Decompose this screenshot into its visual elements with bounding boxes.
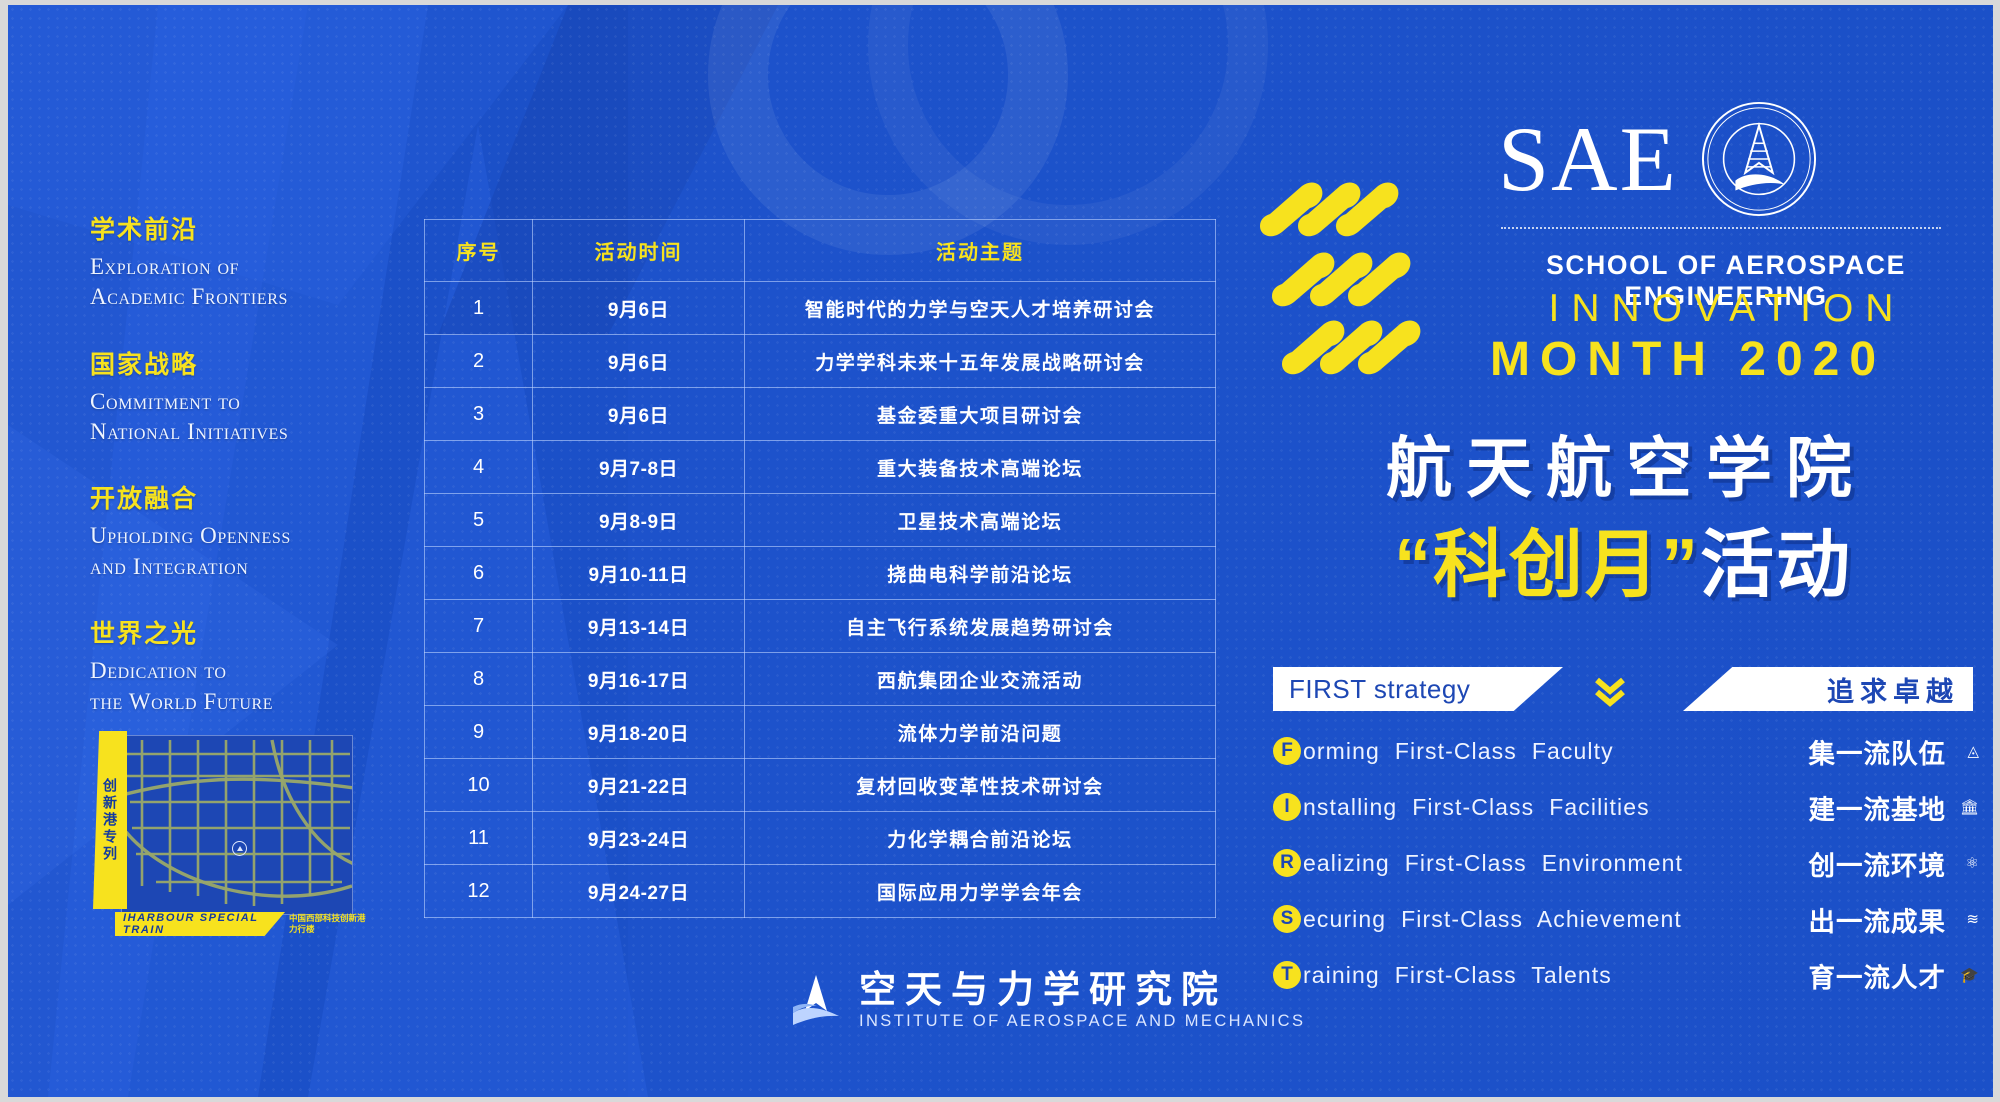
pillar-title-en: Dedication to the World Future <box>90 656 400 717</box>
cell-no: 1 <box>425 282 533 335</box>
first-row-en: ecuring First-Class Achievement <box>1303 906 1682 933</box>
poster-title-cn-line2: “科创月”活动 <box>1273 505 1973 612</box>
layers-icon: ≋ <box>1953 910 1979 928</box>
pillar-title-cn: 开放融合 <box>90 479 400 515</box>
cell-date: 9月24-27日 <box>533 865 745 918</box>
map-tab-vertical: 创新港专列 <box>93 731 127 909</box>
table-row: 8 9月16-17日 西航集团企业交流活动 <box>425 653 1216 706</box>
cell-date: 9月18-20日 <box>533 706 745 759</box>
first-strategy-row: F orming First-Class Faculty 集一流队伍 ◬ <box>1273 723 1979 779</box>
atom-icon: ⚛ <box>1953 854 1979 872</box>
first-row-cn: 育一流人才 <box>1809 956 1947 995</box>
column-header-no: 序号 <box>425 220 533 282</box>
table-row: 7 9月13-14日 自主飞行系统发展趋势研讨会 <box>425 600 1216 653</box>
cell-date: 9月7-8日 <box>533 441 745 494</box>
poster-canvas: 学术前沿 Exploration of Academic Frontiers 国… <box>8 5 1993 1097</box>
cell-no: 5 <box>425 494 533 547</box>
graduation-icon: 🎓 <box>1953 966 1979 984</box>
cell-date: 9月23-24日 <box>533 812 745 865</box>
double-chevron-down-icon <box>1593 674 1627 708</box>
pillars-column: 学术前沿 Exploration of Academic Frontiers 国… <box>90 210 400 749</box>
pillar-en-line2: the World Future <box>90 687 400 717</box>
cell-date: 9月6日 <box>533 335 745 388</box>
pillar-title-cn: 国家战略 <box>90 345 400 381</box>
building-icon: 🏛 <box>1953 798 1979 816</box>
cell-topic: 卫星技术高端论坛 <box>745 494 1216 547</box>
pillar-en-line1: Dedication to <box>90 656 400 686</box>
first-strategy-row: R ealizing First-Class Environment 创一流环境… <box>1273 835 1979 891</box>
first-letter-badge: R <box>1273 849 1301 877</box>
title-highlight: 科创月 <box>1433 523 1661 606</box>
institute-logo: 空天与力学研究院 INSTITUTE OF AEROSPACE AND MECH… <box>787 971 1305 1030</box>
schedule-table-head: 序号 活动时间 活动主题 <box>425 220 1216 282</box>
institute-mark-icon <box>787 971 845 1029</box>
first-row-cn: 出一流成果 <box>1809 900 1947 939</box>
first-letter-badge: S <box>1273 905 1301 933</box>
cell-date: 9月8-9日 <box>533 494 745 547</box>
map-tab-vertical-label: 创新港专列 <box>100 778 120 863</box>
pillar-title-en: Commitment to National Initiatives <box>90 387 400 448</box>
table-row: 10 9月21-22日 复材回收变革性技术研讨会 <box>425 759 1216 812</box>
pillar-en-line1: Commitment to <box>90 387 400 417</box>
cell-topic: 重大装备技术高端论坛 <box>745 441 1216 494</box>
map-tab-bottom-label: IHARBOUR SPECIAL TRAIN <box>115 912 285 936</box>
cell-date: 9月13-14日 <box>533 600 745 653</box>
right-panel: SAE SCHOOL OF AEROSPACE ENGINEERING INNO… <box>1253 5 1993 1097</box>
pillar-en-line1: Upholding Openness <box>90 521 400 551</box>
column-header-date: 活动时间 <box>533 220 745 282</box>
first-row-en: orming First-Class Faculty <box>1303 738 1614 765</box>
cell-no: 4 <box>425 441 533 494</box>
sae-wordmark: SAE <box>1498 117 1678 202</box>
first-strategy-banner: FIRST strategy 追求卓越 <box>1273 667 1973 711</box>
pillar-en-line2: Academic Frontiers <box>90 282 400 312</box>
pillar-title-en: Upholding Openness and Integration <box>90 521 400 582</box>
first-strategy-list: F orming First-Class Faculty 集一流队伍 ◬ I n… <box>1273 723 1979 1003</box>
banner-right-segment: 追求卓越 <box>1683 667 1973 711</box>
cell-topic: 自主飞行系统发展趋势研讨会 <box>745 600 1216 653</box>
poster-title-cn-line1: 航天航空学院 <box>1276 415 1976 511</box>
cell-date: 9月16-17日 <box>533 653 745 706</box>
cell-topic: 力化学耦合前沿论坛 <box>745 812 1216 865</box>
first-letter-badge: I <box>1273 793 1301 821</box>
pillar-item: 国家战略 Commitment to National Initiatives <box>90 345 400 448</box>
pillar-title-cn: 世界之光 <box>90 614 400 650</box>
cell-date: 9月6日 <box>533 282 745 335</box>
first-strategy-label: FIRST strategy <box>1273 674 1470 705</box>
cell-topic: 国际应用力学学会年会 <box>745 865 1216 918</box>
cell-topic: 复材回收变革性技术研讨会 <box>745 759 1216 812</box>
cell-no: 12 <box>425 865 533 918</box>
cell-topic: 智能时代的力学与空天人才培养研讨会 <box>745 282 1216 335</box>
map-tab-bottom: IHARBOUR SPECIAL TRAIN <box>115 912 285 936</box>
cell-date: 9月21-22日 <box>533 759 745 812</box>
pillar-item: 学术前沿 Exploration of Academic Frontiers <box>90 210 400 313</box>
map-roads-icon <box>122 736 353 915</box>
pillar-item: 开放融合 Upholding Openness and Integration <box>90 479 400 582</box>
table-row: 1 9月6日 智能时代的力学与空天人才培养研讨会 <box>425 282 1216 335</box>
pillar-en-line2: and Integration <box>90 552 400 582</box>
sae-divider <box>1501 227 1941 229</box>
map-caption-line1: 中国西部科技创新港 <box>289 913 367 924</box>
first-strategy-row: I nstalling First-Class Facilities 建一流基地… <box>1273 779 1979 835</box>
map-caption-line2: 力行楼 <box>289 924 367 935</box>
cell-topic: 基金委重大项目研讨会 <box>745 388 1216 441</box>
university-seal-icon <box>1700 100 1818 218</box>
schedule-table: 序号 活动时间 活动主题 1 9月6日 智能时代的力学与空天人才培养研讨会 2 … <box>424 219 1216 918</box>
first-row-cn: 创一流环境 <box>1809 844 1947 883</box>
sae-logo-row: SAE <box>1498 100 1818 218</box>
cell-topic: 西航集团企业交流活动 <box>745 653 1216 706</box>
table-header-row: 序号 活动时间 活动主题 <box>425 220 1216 282</box>
first-letter-badge: T <box>1273 961 1301 989</box>
pillar-item: 世界之光 Dedication to the World Future <box>90 614 400 717</box>
cell-topic: 力学学科未来十五年发展战略研讨会 <box>745 335 1216 388</box>
people-icon: ◬ <box>1953 742 1979 760</box>
table-row: 2 9月6日 力学学科未来十五年发展战略研讨会 <box>425 335 1216 388</box>
title-quote-close: ” <box>1661 523 1700 606</box>
first-letter-badge: F <box>1273 737 1301 765</box>
table-row: 5 9月8-9日 卫星技术高端论坛 <box>425 494 1216 547</box>
map-caption: 中国西部科技创新港 力行楼 <box>289 913 367 936</box>
cell-no: 2 <box>425 335 533 388</box>
cell-date: 9月6日 <box>533 388 745 441</box>
cell-no: 9 <box>425 706 533 759</box>
first-row-en: ealizing First-Class Environment <box>1303 850 1683 877</box>
pillar-title-cn: 学术前沿 <box>90 210 400 246</box>
institute-names: 空天与力学研究院 INSTITUTE OF AEROSPACE AND MECH… <box>859 971 1305 1030</box>
cell-topic: 流体力学前沿问题 <box>745 706 1216 759</box>
map-graphic <box>121 735 353 915</box>
innovation-heading: INNOVATION <box>1501 287 1953 331</box>
table-row: 11 9月23-24日 力化学耦合前沿论坛 <box>425 812 1216 865</box>
table-row: 12 9月24-27日 国际应用力学学会年会 <box>425 865 1216 918</box>
cell-no: 7 <box>425 600 533 653</box>
first-row-en: raining First-Class Talents <box>1303 962 1612 989</box>
column-header-topic: 活动主题 <box>745 220 1216 282</box>
first-row-cn: 建一流基地 <box>1809 788 1947 827</box>
cell-topic: 挠曲电科学前沿论坛 <box>745 547 1216 600</box>
table-row: 4 9月7-8日 重大装备技术高端论坛 <box>425 441 1216 494</box>
pillar-en-line2: National Initiatives <box>90 417 400 447</box>
cell-date: 9月10-11日 <box>533 547 745 600</box>
cell-no: 6 <box>425 547 533 600</box>
pillar-title-en: Exploration of Academic Frontiers <box>90 252 400 313</box>
cell-no: 3 <box>425 388 533 441</box>
first-strategy-row: T raining First-Class Talents 育一流人才 🎓 <box>1273 947 1979 1003</box>
cell-no: 11 <box>425 812 533 865</box>
pursuit-excellence-label: 追求卓越 <box>1827 670 1973 709</box>
title-suffix: 活动 <box>1700 523 1852 606</box>
institute-name-en: INSTITUTE OF AEROSPACE AND MECHANICS <box>859 1013 1305 1030</box>
first-row-cn: 集一流队伍 <box>1809 732 1947 771</box>
table-row: 6 9月10-11日 挠曲电科学前沿论坛 <box>425 547 1216 600</box>
cell-no: 10 <box>425 759 533 812</box>
table-row: 3 9月6日 基金委重大项目研讨会 <box>425 388 1216 441</box>
first-row-en: nstalling First-Class Facilities <box>1303 794 1650 821</box>
month-year-heading: MONTH 2020 <box>1423 332 1953 387</box>
innovation-harbour-map-card: 创新港专列 IHARBOUR SPECIAL TRAIN 中国西部科技创新港 力… <box>93 727 358 942</box>
first-strategy-row: S ecuring First-Class Achievement 出一流成果 … <box>1273 891 1979 947</box>
schedule-table-body: 1 9月6日 智能时代的力学与空天人才培养研讨会 2 9月6日 力学学科未来十五… <box>425 282 1216 918</box>
cell-no: 8 <box>425 653 533 706</box>
pillar-en-line1: Exploration of <box>90 252 400 282</box>
banner-left-segment: FIRST strategy <box>1273 667 1563 711</box>
title-quote-open: “ <box>1394 523 1433 606</box>
table-row: 9 9月18-20日 流体力学前沿问题 <box>425 706 1216 759</box>
map-location-pin-icon <box>232 841 247 856</box>
institute-name-cn: 空天与力学研究院 <box>859 971 1305 1008</box>
